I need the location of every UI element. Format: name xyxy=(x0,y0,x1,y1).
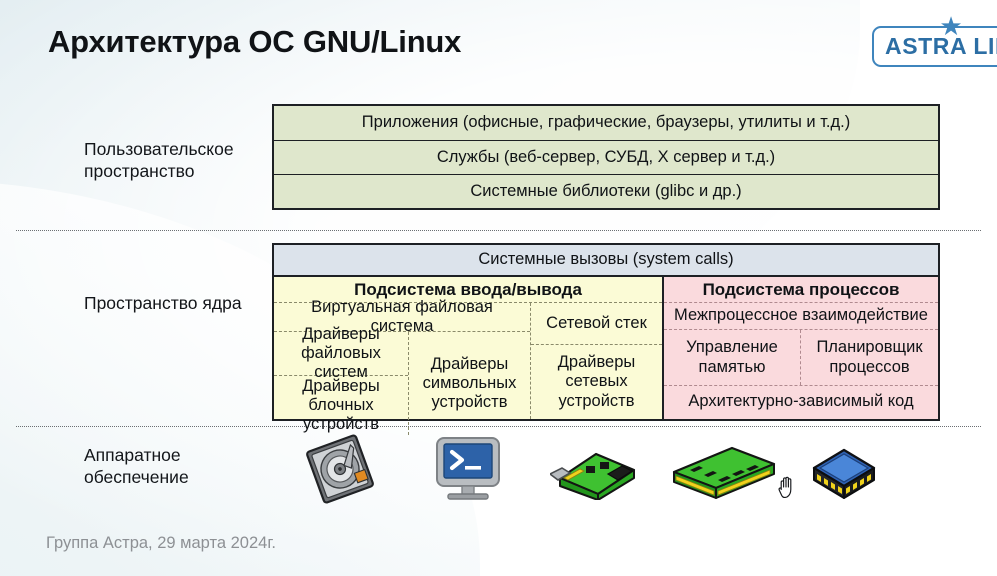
block-process-scheduler: Планировщик процессов xyxy=(801,330,938,385)
user-space-row: Приложения (офисные, графические, браузе… xyxy=(274,106,938,140)
block-system-libraries: Системные библиотеки (glibc и др.) xyxy=(274,174,938,208)
separator-user-kernel xyxy=(16,230,981,231)
zone-label-user-space: Пользовательское пространство xyxy=(84,138,274,183)
process-subsystem-title: Подсистема процессов xyxy=(664,277,938,303)
io-left-column: Виртуальная файловая система Драйверы фа… xyxy=(274,303,531,419)
hard-disk-icon xyxy=(300,434,380,504)
io-right-column: Сетевой стек Драйверы сетевых устройств xyxy=(531,303,662,419)
block-ipc: Межпроцессное взаимодействие xyxy=(664,303,938,330)
block-services: Службы (веб-сервер, СУБД, X сервер и т.д… xyxy=(274,140,938,174)
logo-text: ASTRA LIN xyxy=(885,33,997,60)
zone-label-hardware: Аппаратное обеспечение xyxy=(84,444,274,489)
slide-canvas: Архитектура ОС GNU/Linux ★ ASTRA LIN Пол… xyxy=(0,0,997,576)
io-lower-group: Драйверы файловых систем Драйверы блочны… xyxy=(274,332,530,435)
network-card-icon xyxy=(550,448,640,500)
user-space-row: Системные библиотеки (glibc и др.) xyxy=(274,174,938,208)
user-space-row: Службы (веб-сервер, СУБД, X сервер и т.д… xyxy=(274,140,938,174)
user-space-stack: Приложения (офисные, графические, браузе… xyxy=(272,104,940,210)
block-network-stack: Сетевой стек xyxy=(531,303,662,345)
block-memory-management: Управление памятью xyxy=(664,330,801,385)
page-title: Архитектура ОС GNU/Linux xyxy=(48,24,461,60)
hardware-icon-row xyxy=(272,434,940,506)
io-fs-driver-column: Драйверы файловых систем Драйверы блочны… xyxy=(274,332,409,435)
block-network-device-drivers: Драйверы сетевых устройств xyxy=(531,345,662,419)
astra-linux-logo: ★ ASTRA LIN xyxy=(872,26,997,67)
kernel-subsystems: Подсистема ввода/вывода Виртуальная файл… xyxy=(274,277,938,419)
block-block-device-drivers: Драйверы блочных устройств xyxy=(274,376,408,435)
cpu-chip-icon xyxy=(808,442,880,502)
block-fs-drivers: Драйверы файловых систем xyxy=(274,332,408,376)
kernel-space-stack: Системные вызовы (system calls) Подсисте… xyxy=(272,243,940,421)
block-system-calls: Системные вызовы (system calls) xyxy=(274,245,938,277)
block-applications: Приложения (офисные, графические, браузе… xyxy=(274,106,938,140)
process-subsystem: Подсистема процессов Межпроцессное взаим… xyxy=(664,277,938,419)
process-middle-row: Управление памятью Планировщик процессов xyxy=(664,330,938,386)
block-arch-dependent-code: Архитектурно-зависимый код xyxy=(664,386,938,417)
io-subsystem-grid: Виртуальная файловая система Драйверы фа… xyxy=(274,303,662,419)
block-char-device-drivers: Драйверы символьных устройств xyxy=(409,332,530,435)
footer-text: Группа Астра, 29 марта 2024г. xyxy=(46,534,276,553)
io-subsystem: Подсистема ввода/вывода Виртуальная файл… xyxy=(274,277,664,419)
ram-module-icon xyxy=(670,446,778,502)
zone-label-kernel-space: Пространство ядра xyxy=(84,292,274,314)
monitor-terminal-icon xyxy=(432,434,504,504)
